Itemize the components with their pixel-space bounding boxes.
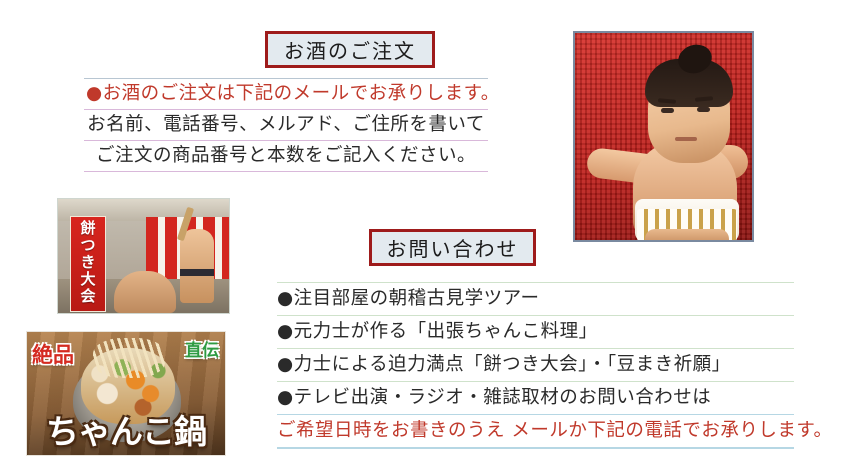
- mochi-banner-char-4: 大: [80, 271, 95, 288]
- order-line-2-text: お名前、電話番号、メルアド、ご住所を書いて: [87, 114, 485, 135]
- sumo-figurine-photo: [573, 31, 754, 242]
- order-line-2: お名前、電話番号、メルアド、ご住所を書いて: [84, 110, 488, 141]
- contact-line-1: ●注目部屋の朝稽古見学ツアー: [277, 282, 794, 316]
- mochi-photo-standing-wrestler: [180, 229, 214, 303]
- order-line-3: ご注文の商品番号と本数をご記入ください。: [84, 141, 488, 172]
- mochi-banner-char-2: つ: [80, 237, 95, 254]
- chanko-photo-noodles: [93, 338, 165, 378]
- sumo-figure-mouth: [675, 137, 697, 141]
- order-line-1-bullet-icon: ●: [86, 83, 103, 104]
- sumo-figure-legs: [645, 229, 729, 242]
- contact-line-5-text: ご希望日時をお書きのうえ メールか下記の電話でお承りします。: [277, 420, 833, 441]
- order-line-3-text: ご注文の商品番号と本数をご記入ください。: [96, 145, 476, 166]
- mochi-banner-char-5: 会: [80, 288, 95, 305]
- contact-line-4-bullet-icon: ●: [277, 387, 294, 408]
- contact-line-5: ご希望日時をお書きのうえ メールか下記の電話でお承りします。: [277, 415, 794, 449]
- contact-line-2-bullet-icon: ●: [277, 321, 294, 342]
- mochi-photo-crouching-wrestler: [114, 271, 176, 313]
- chanko-label-title: ちゃんこ鍋: [27, 405, 225, 453]
- mochi-photo-banner: 餅 つ き 大 会: [70, 216, 106, 312]
- order-line-1: ●お酒のご注文は下記のメールでお承りします。: [84, 78, 488, 110]
- contact-line-3: ●力士による迫力満点「餅つき大会」・「豆まき祈願」: [277, 349, 794, 382]
- sumo-figure-left-eye: [661, 108, 674, 113]
- contact-line-4: ●テレビ出演・ラジオ・雑誌取材のお問い合わせは: [277, 382, 794, 415]
- order-section-text-block: ●お酒のご注文は下記のメールでお承りします。 お名前、電話番号、メルアド、ご住所…: [84, 78, 488, 172]
- sumo-figure-right-eye: [697, 107, 710, 112]
- contact-line-3-text: 力士による迫力満点「餅つき大会」・「豆まき祈願」: [294, 354, 731, 375]
- chanko-label-zeppin: 絶品: [32, 344, 74, 366]
- mochi-banner-char-3: き: [80, 254, 95, 271]
- contact-line-3-bullet-icon: ●: [277, 354, 294, 375]
- order-section-heading: お酒のご注文: [265, 31, 435, 68]
- contact-line-1-bullet-icon: ●: [277, 288, 294, 309]
- contact-section-text-block: ●注目部屋の朝稽古見学ツアー ●元力士が作る「出張ちゃんこ料理」 ●力士による迫…: [277, 282, 794, 449]
- contact-line-4-text: テレビ出演・ラジオ・雑誌取材のお問い合わせは: [294, 387, 712, 408]
- contact-line-2-text: 元力士が作る「出張ちゃんこ料理」: [294, 321, 598, 342]
- chanko-label-jikiden: 直伝: [185, 342, 219, 361]
- mochi-banner-char-1: 餅: [80, 220, 95, 237]
- contact-section-heading: お問い合わせ: [369, 229, 536, 266]
- mochi-pounding-photo: 餅 つ き 大 会: [57, 198, 230, 314]
- order-line-1-text: お酒のご注文は下記のメールでお承りします。: [103, 83, 500, 104]
- chanko-nabe-photo: 絶品 直伝 ちゃんこ鍋: [26, 331, 226, 456]
- mochi-photo-wrestler-belt: [180, 269, 214, 276]
- contact-line-2: ●元力士が作る「出張ちゃんこ料理」: [277, 316, 794, 349]
- contact-line-1-text: 注目部屋の朝稽古見学ツアー: [294, 288, 540, 309]
